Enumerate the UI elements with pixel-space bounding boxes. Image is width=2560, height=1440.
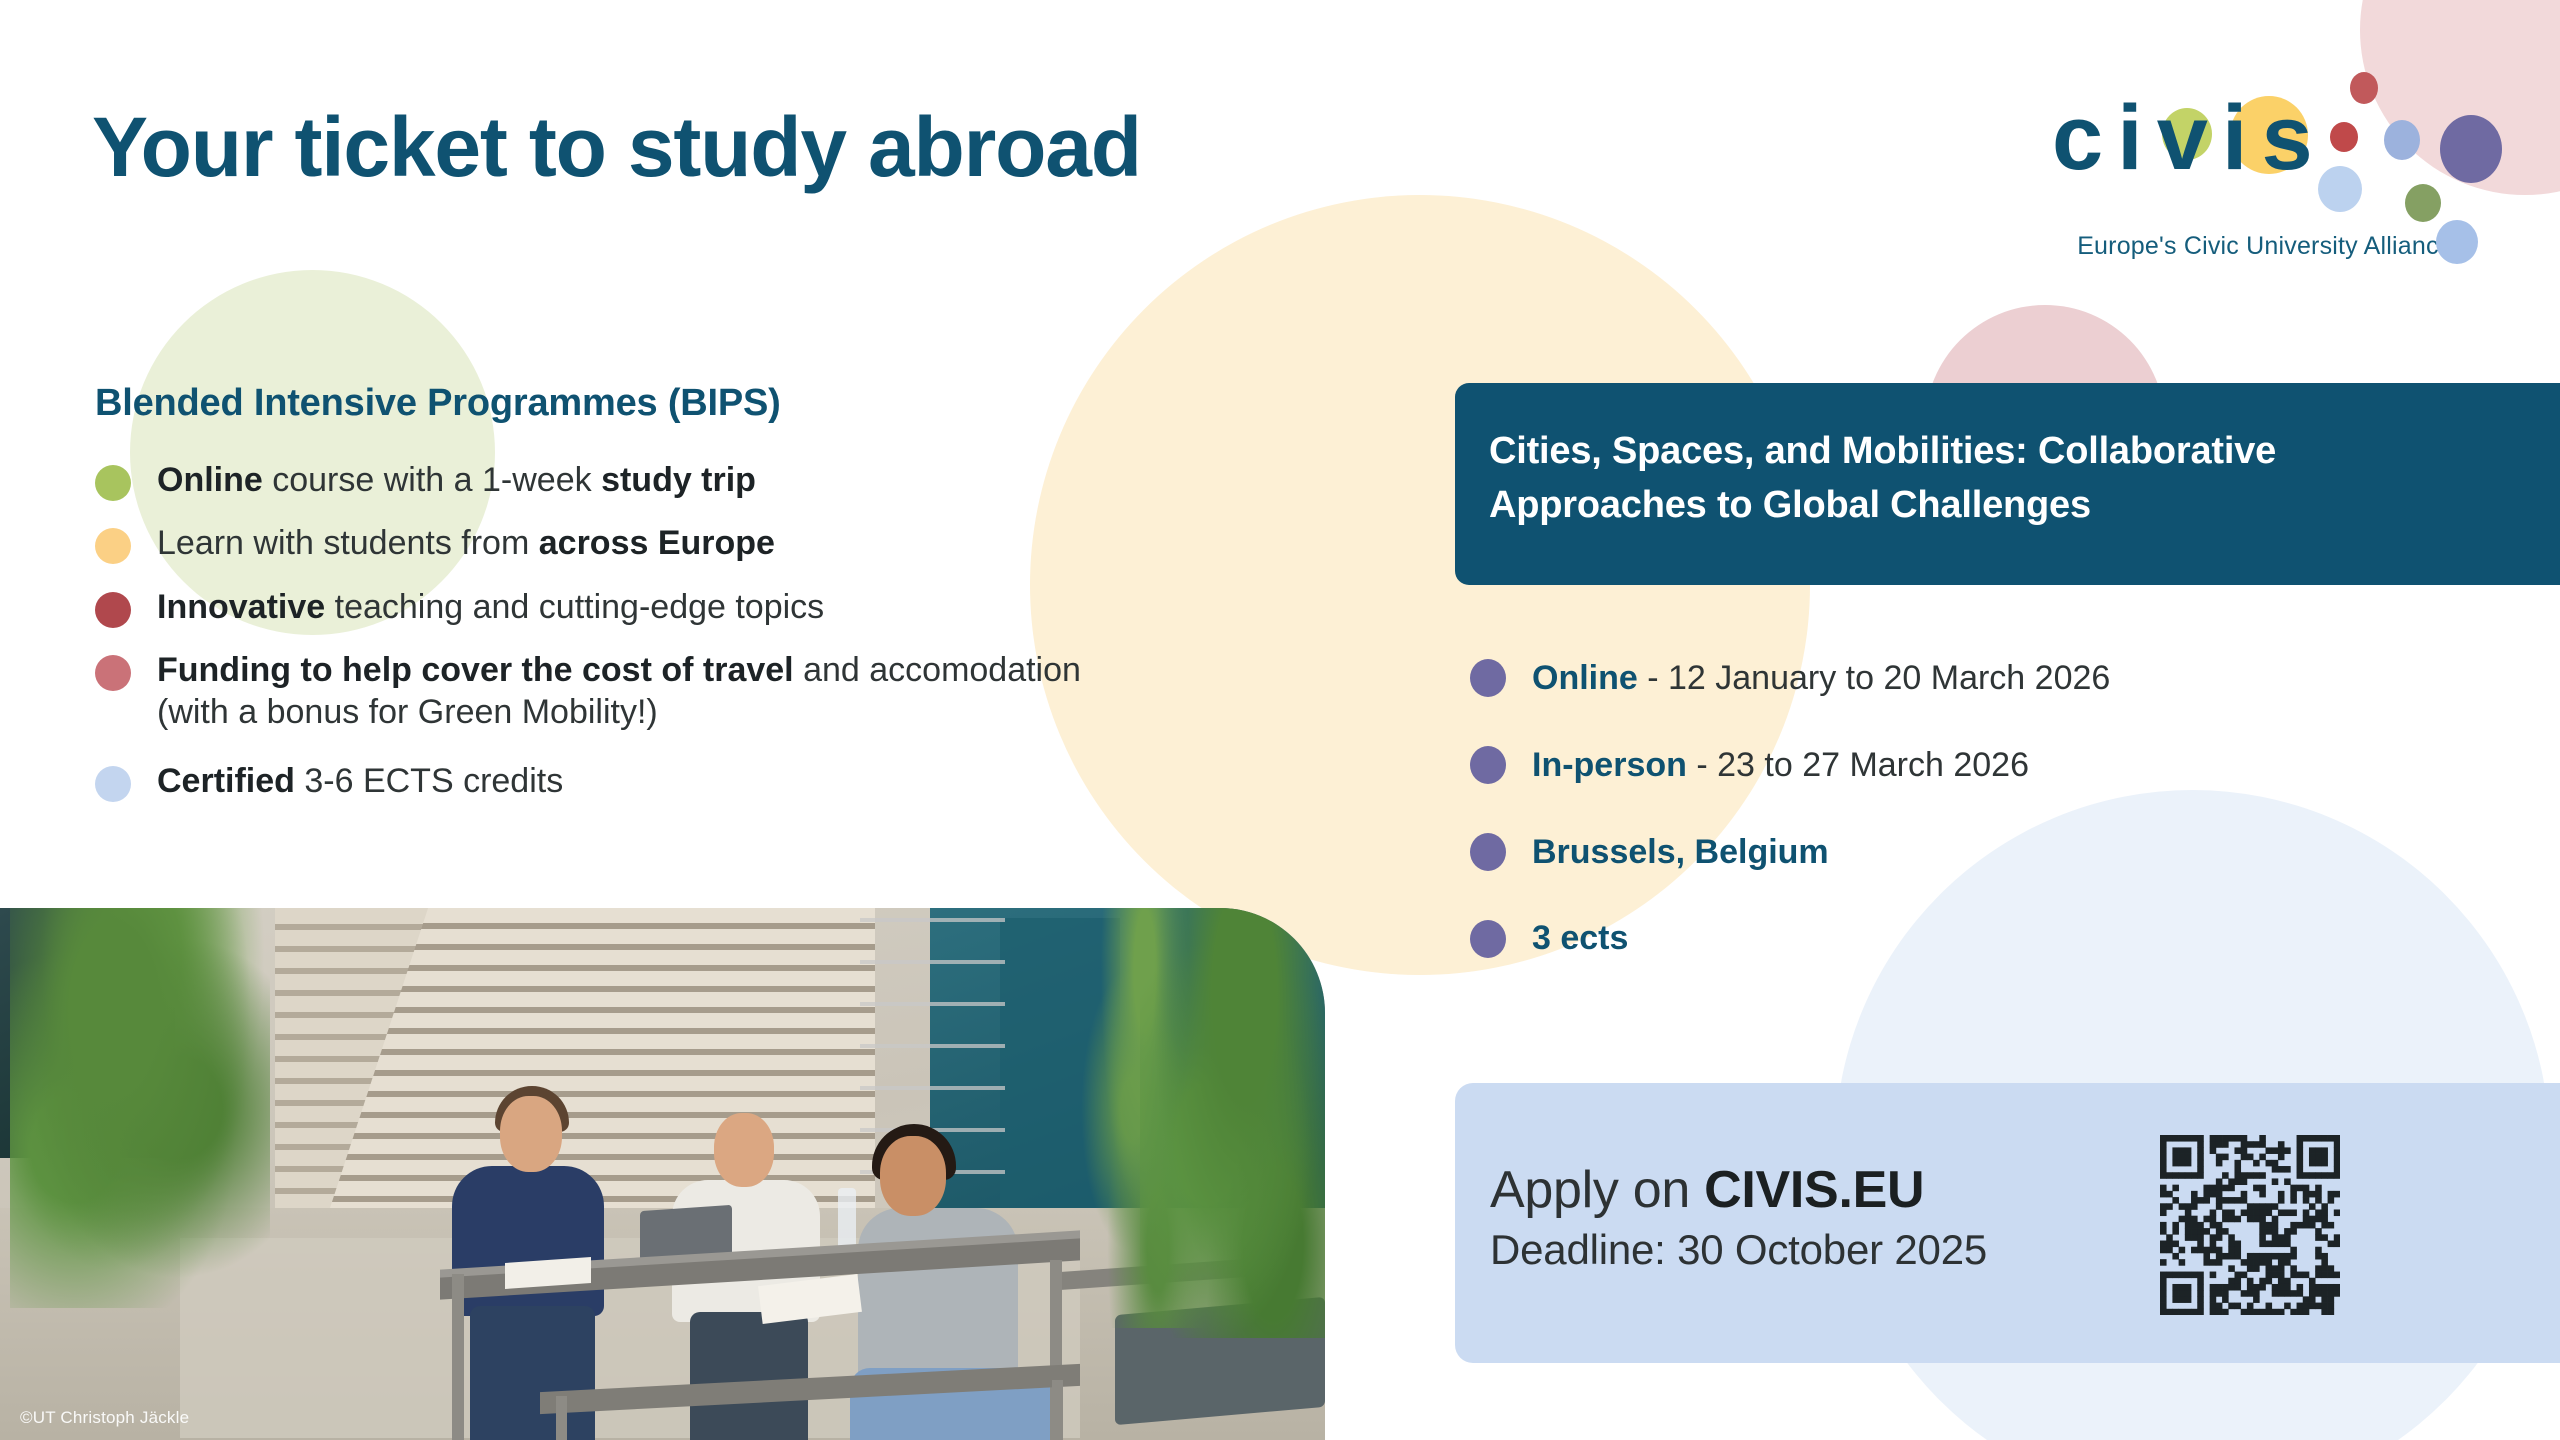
cta-apply-label: Apply on CIVIS.EU: [1490, 1161, 1987, 1219]
bips-bullet-list: Online course with a 1-week study tripLe…: [95, 460, 1155, 825]
apply-cta-box[interactable]: Apply on CIVIS.EU Deadline: 30 October 2…: [1455, 1083, 2560, 1363]
bips-bullet-item: Funding to help cover the cost of travel…: [95, 650, 1155, 733]
photo-table-leg-left: [452, 1274, 464, 1440]
detail-text: In-person - 23 to 27 March 2026: [1532, 745, 2029, 786]
bullet-dot-icon: [95, 655, 131, 691]
bullet-dot-icon: [95, 528, 131, 564]
photo-student-center-head: [714, 1113, 774, 1187]
detail-text: 3 ects: [1532, 918, 1628, 959]
photo-tree-right: [1140, 908, 1325, 1338]
bullet-text: Learn with students from across Europe: [157, 523, 775, 564]
course-details-list: Online - 12 January to 20 March 2026In-p…: [1470, 658, 2470, 1005]
bullet-text: Online course with a 1-week study trip: [157, 460, 756, 501]
detail-dot-icon: [1470, 746, 1506, 784]
course-detail-item: In-person - 23 to 27 March 2026: [1470, 745, 2470, 786]
photo-bench-leg-left: [556, 1396, 567, 1440]
bullet-dot-icon: [95, 592, 131, 628]
bips-bullet-item: Certified 3-6 ECTS credits: [95, 761, 1155, 802]
course-detail-item: Brussels, Belgium: [1470, 832, 2470, 873]
photo-tree-left: [10, 908, 270, 1308]
students-photo: ©UT Christoph Jäckle: [0, 908, 1325, 1440]
bullet-dot-icon: [95, 465, 131, 501]
photo-bench-leg-right: [1052, 1380, 1063, 1440]
logo-dot-red-small-icon: [2330, 122, 2358, 152]
detail-text: Brussels, Belgium: [1532, 832, 1829, 873]
bullet-text: Innovative teaching and cutting-edge top…: [157, 587, 824, 628]
logo-dot-purple-icon: [2440, 115, 2502, 183]
detail-dot-icon: [1470, 659, 1506, 697]
logo-dot-red-top-icon: [2350, 72, 2378, 104]
photo-student-right-head: [880, 1136, 946, 1216]
page-title: Your ticket to study abroad: [92, 105, 1141, 189]
qr-code-icon[interactable]: [2160, 1135, 2340, 1315]
bips-heading: Blended Intensive Programmes (BIPS): [95, 382, 781, 425]
course-detail-item: Online - 12 January to 20 March 2026: [1470, 658, 2470, 699]
detail-dot-icon: [1470, 920, 1506, 958]
logo-dot-blue-bottom-icon: [2436, 220, 2478, 264]
detail-dot-icon: [1470, 833, 1506, 871]
course-title-banner: Cities, Spaces, and Mobilities: Collabor…: [1455, 383, 2560, 585]
bips-bullet-item: Online course with a 1-week study trip: [95, 460, 1155, 501]
cta-text-block: Apply on CIVIS.EU Deadline: 30 October 2…: [1490, 1161, 1987, 1276]
bips-bullet-item: Learn with students from across Europe: [95, 523, 1155, 564]
detail-text: Online - 12 January to 20 March 2026: [1532, 658, 2110, 699]
photo-credit: ©UT Christoph Jäckle: [20, 1408, 189, 1428]
course-detail-item: 3 ects: [1470, 918, 2470, 959]
photo-student-left-head: [500, 1096, 562, 1172]
logo-tagline: Europe's Civic University Alliance: [2030, 232, 2500, 261]
course-title: Cities, Spaces, and Mobilities: Collabor…: [1489, 425, 2498, 533]
logo-dot-olive-icon: [2405, 184, 2441, 222]
bullet-dot-icon: [95, 766, 131, 802]
photo-scene: [0, 908, 1325, 1440]
photo-student-center-legs: [690, 1312, 808, 1440]
bullet-text: Funding to help cover the cost of travel…: [157, 650, 1155, 733]
cta-deadline-label: Deadline: 30 October 2025: [1490, 1225, 1987, 1275]
logo-dot-light-blue-icon: [2384, 120, 2420, 160]
photo-student-left-legs: [470, 1306, 595, 1440]
logo-wordmark: civis: [2052, 92, 2327, 184]
poster-canvas: Your ticket to study abroad civis Europe…: [0, 0, 2560, 1440]
bullet-text: Certified 3-6 ECTS credits: [157, 761, 563, 802]
bips-bullet-item: Innovative teaching and cutting-edge top…: [95, 587, 1155, 628]
civis-logo: civis Europe's Civic University Alliance: [2030, 80, 2500, 275]
